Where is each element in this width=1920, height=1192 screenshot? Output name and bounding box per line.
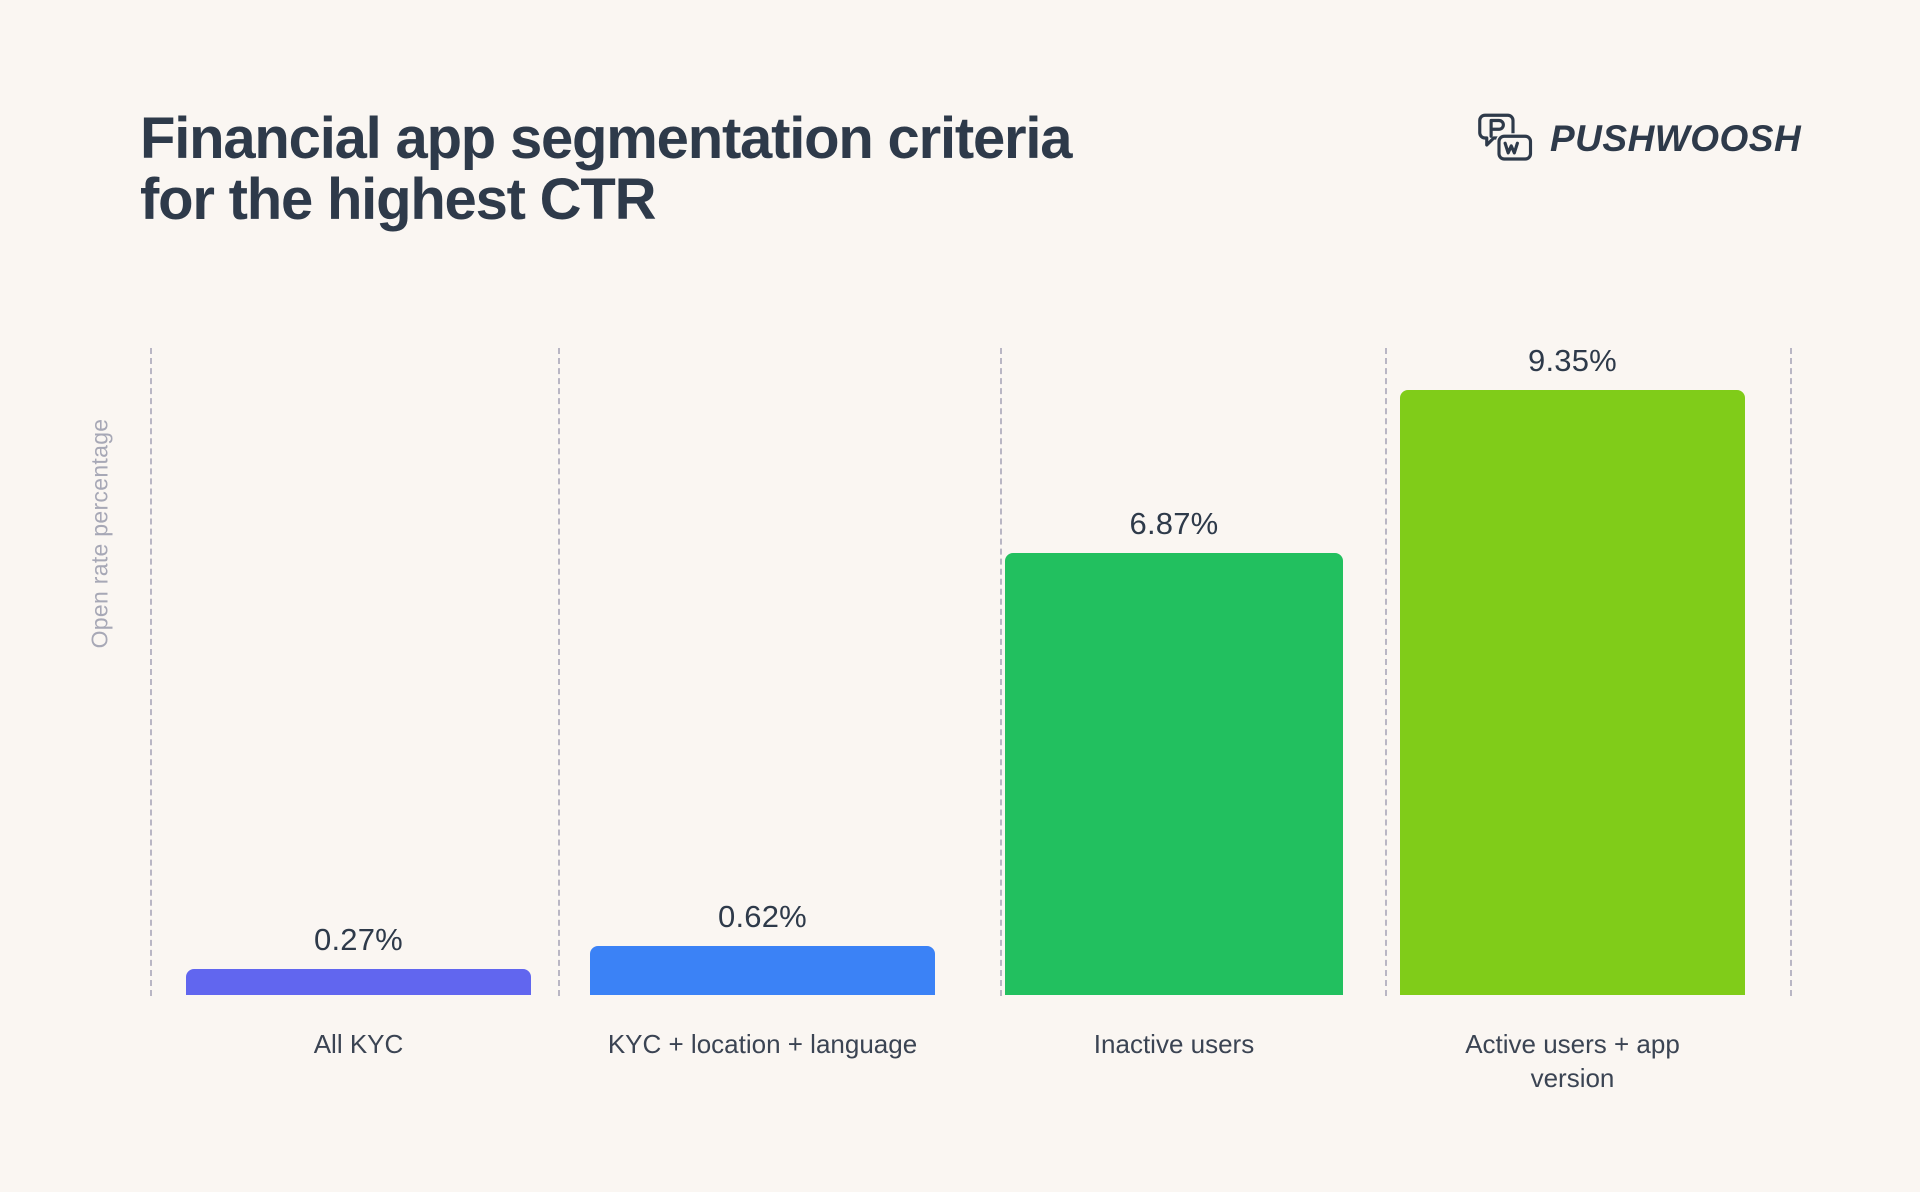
- bar-category-label: Active users + app version: [1370, 1028, 1775, 1096]
- bar-value-label: 0.62%: [590, 899, 935, 935]
- y-axis-label: Open rate percentage: [87, 384, 114, 684]
- bar-category-label: KYC + location + language: [560, 1028, 965, 1062]
- bar-chart: Open rate percentage 0.27% All KYC 0.62%…: [0, 0, 1920, 1192]
- gridline: [1000, 348, 1002, 996]
- bar[interactable]: [1400, 390, 1745, 995]
- bar-group[interactable]: 0.62% KYC + location + language: [590, 946, 935, 995]
- bar-value-label: 9.35%: [1400, 343, 1745, 379]
- bar-category-label: All KYC: [156, 1028, 561, 1062]
- gridline: [1385, 348, 1387, 996]
- bar-value-label: 0.27%: [186, 922, 531, 958]
- bar-group[interactable]: 6.87% Inactive users: [1005, 553, 1343, 995]
- bar-category-label: Inactive users: [975, 1028, 1373, 1062]
- bar-group[interactable]: 0.27% All KYC: [186, 969, 531, 995]
- bar[interactable]: [186, 969, 531, 995]
- bar[interactable]: [1005, 553, 1343, 995]
- chart-page: Financial app segmentation criteria for …: [0, 0, 1920, 1192]
- bar[interactable]: [590, 946, 935, 995]
- gridline: [1790, 348, 1792, 996]
- gridline: [558, 348, 560, 996]
- gridline: [150, 348, 152, 996]
- bar-group[interactable]: 9.35% Active users + app version: [1400, 390, 1745, 995]
- bar-value-label: 6.87%: [1005, 506, 1343, 542]
